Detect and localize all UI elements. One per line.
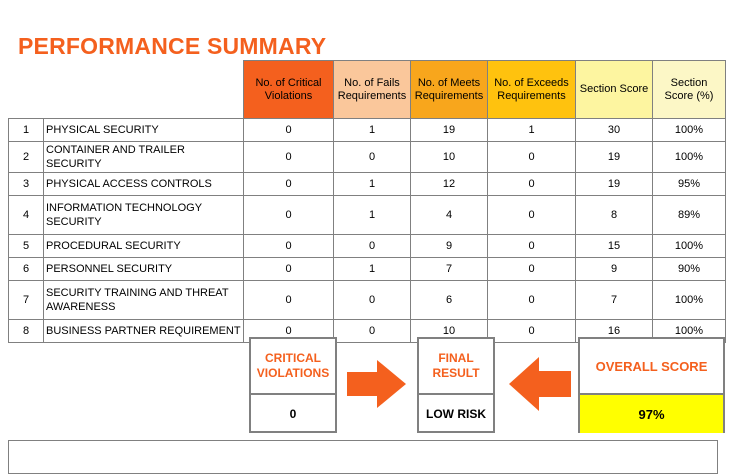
cell-critical: 0: [244, 196, 334, 235]
cell-fails: 1: [334, 258, 411, 281]
cell-meets: 10: [411, 142, 488, 173]
table-header-row: No. of Critical Violations No. of Fails …: [9, 61, 726, 119]
performance-table-body: 1PHYSICAL SECURITY0119130100%2CONTAINER …: [9, 119, 726, 343]
header-blank-index: [9, 61, 44, 119]
row-section-name: CONTAINER AND TRAILER SECURITY: [44, 142, 244, 173]
row-section-name: PHYSICAL SECURITY: [44, 119, 244, 142]
cell-meets: 12: [411, 173, 488, 196]
overall-score-value: 97%: [580, 395, 723, 433]
bottom-empty-frame: [8, 440, 718, 474]
cell-section-score: 7: [576, 281, 653, 320]
cell-section-percent: 90%: [653, 258, 726, 281]
row-section-name: PROCEDURAL SECURITY: [44, 235, 244, 258]
row-section-name: BUSINESS PARTNER REQUIREMENT: [44, 320, 244, 343]
cell-fails: 0: [334, 320, 411, 343]
cell-section-score: 19: [576, 173, 653, 196]
arrow-left-icon: [508, 355, 572, 413]
cell-exceeds: 0: [488, 142, 576, 173]
row-index: 3: [9, 173, 44, 196]
cell-fails: 0: [334, 281, 411, 320]
table-row: 7SECURITY TRAINING AND THREAT AWARENESS0…: [9, 281, 726, 320]
row-index: 7: [9, 281, 44, 320]
header-section-score-pct: Section Score (%): [653, 61, 726, 119]
row-index: 8: [9, 320, 44, 343]
table-row: 1PHYSICAL SECURITY0119130100%: [9, 119, 726, 142]
performance-summary-table: No. of Critical Violations No. of Fails …: [8, 60, 726, 343]
cell-fails: 1: [334, 173, 411, 196]
header-meets-requirements: No. of Meets Requirements: [411, 61, 488, 119]
row-section-name: PHYSICAL ACCESS CONTROLS: [44, 173, 244, 196]
cell-exceeds: 0: [488, 173, 576, 196]
cell-critical: 0: [244, 142, 334, 173]
cell-critical: 0: [244, 119, 334, 142]
row-index: 4: [9, 196, 44, 235]
table-row: 6PERSONNEL SECURITY0170990%: [9, 258, 726, 281]
cell-section-score: 19: [576, 142, 653, 173]
cell-meets: 6: [411, 281, 488, 320]
cell-section-percent: 95%: [653, 173, 726, 196]
cell-fails: 1: [334, 196, 411, 235]
cell-section-percent: 100%: [653, 281, 726, 320]
cell-section-percent: 100%: [653, 235, 726, 258]
cell-exceeds: 0: [488, 320, 576, 343]
cell-exceeds: 0: [488, 258, 576, 281]
header-exceeds-requirements: No. of Exceeds Requirements: [488, 61, 576, 119]
overall-score-box: OVERALL SCORE 97%: [578, 337, 725, 433]
cell-critical: 0: [244, 235, 334, 258]
cell-meets: 19: [411, 119, 488, 142]
critical-violations-box: CRITICAL VIOLATIONS 0: [249, 337, 337, 433]
cell-section-score: 9: [576, 258, 653, 281]
cell-meets: 9: [411, 235, 488, 258]
row-section-name: SECURITY TRAINING AND THREAT AWARENESS: [44, 281, 244, 320]
cell-critical: 0: [244, 281, 334, 320]
cell-meets: 4: [411, 196, 488, 235]
critical-violations-label: CRITICAL VIOLATIONS: [251, 339, 335, 395]
final-result-label: FINAL RESULT: [419, 339, 493, 395]
row-index: 1: [9, 119, 44, 142]
table-row: 3PHYSICAL ACCESS CONTROLS011201995%: [9, 173, 726, 196]
table-row: 5PROCEDURAL SECURITY009015100%: [9, 235, 726, 258]
cell-critical: 0: [244, 258, 334, 281]
cell-section-percent: 89%: [653, 196, 726, 235]
cell-section-percent: 100%: [653, 119, 726, 142]
row-index: 2: [9, 142, 44, 173]
cell-fails: 0: [334, 235, 411, 258]
critical-violations-value: 0: [251, 395, 335, 433]
cell-section-score: 15: [576, 235, 653, 258]
cell-critical: 0: [244, 173, 334, 196]
cell-exceeds: 0: [488, 235, 576, 258]
header-blank-section: [44, 61, 244, 119]
final-result-value: LOW RISK: [419, 395, 493, 433]
header-section-score: Section Score: [576, 61, 653, 119]
cell-section-percent: 100%: [653, 142, 726, 173]
cell-meets: 7: [411, 258, 488, 281]
table-row: 4INFORMATION TECHNOLOGY SECURITY0140889%: [9, 196, 726, 235]
page-title: PERFORMANCE SUMMARY: [18, 33, 326, 60]
row-section-name: INFORMATION TECHNOLOGY SECURITY: [44, 196, 244, 235]
header-fails-requirements: No. of Fails Requirements: [334, 61, 411, 119]
arrow-right-icon: [347, 358, 407, 410]
overall-score-label: OVERALL SCORE: [580, 339, 723, 395]
cell-section-score: 30: [576, 119, 653, 142]
row-section-name: PERSONNEL SECURITY: [44, 258, 244, 281]
final-result-box: FINAL RESULT LOW RISK: [417, 337, 495, 433]
cell-exceeds: 0: [488, 196, 576, 235]
cell-fails: 0: [334, 142, 411, 173]
cell-exceeds: 1: [488, 119, 576, 142]
cell-section-score: 8: [576, 196, 653, 235]
table-row: 2CONTAINER AND TRAILER SECURITY001001910…: [9, 142, 726, 173]
cell-exceeds: 0: [488, 281, 576, 320]
header-critical-violations: No. of Critical Violations: [244, 61, 334, 119]
cell-fails: 1: [334, 119, 411, 142]
row-index: 5: [9, 235, 44, 258]
row-index: 6: [9, 258, 44, 281]
